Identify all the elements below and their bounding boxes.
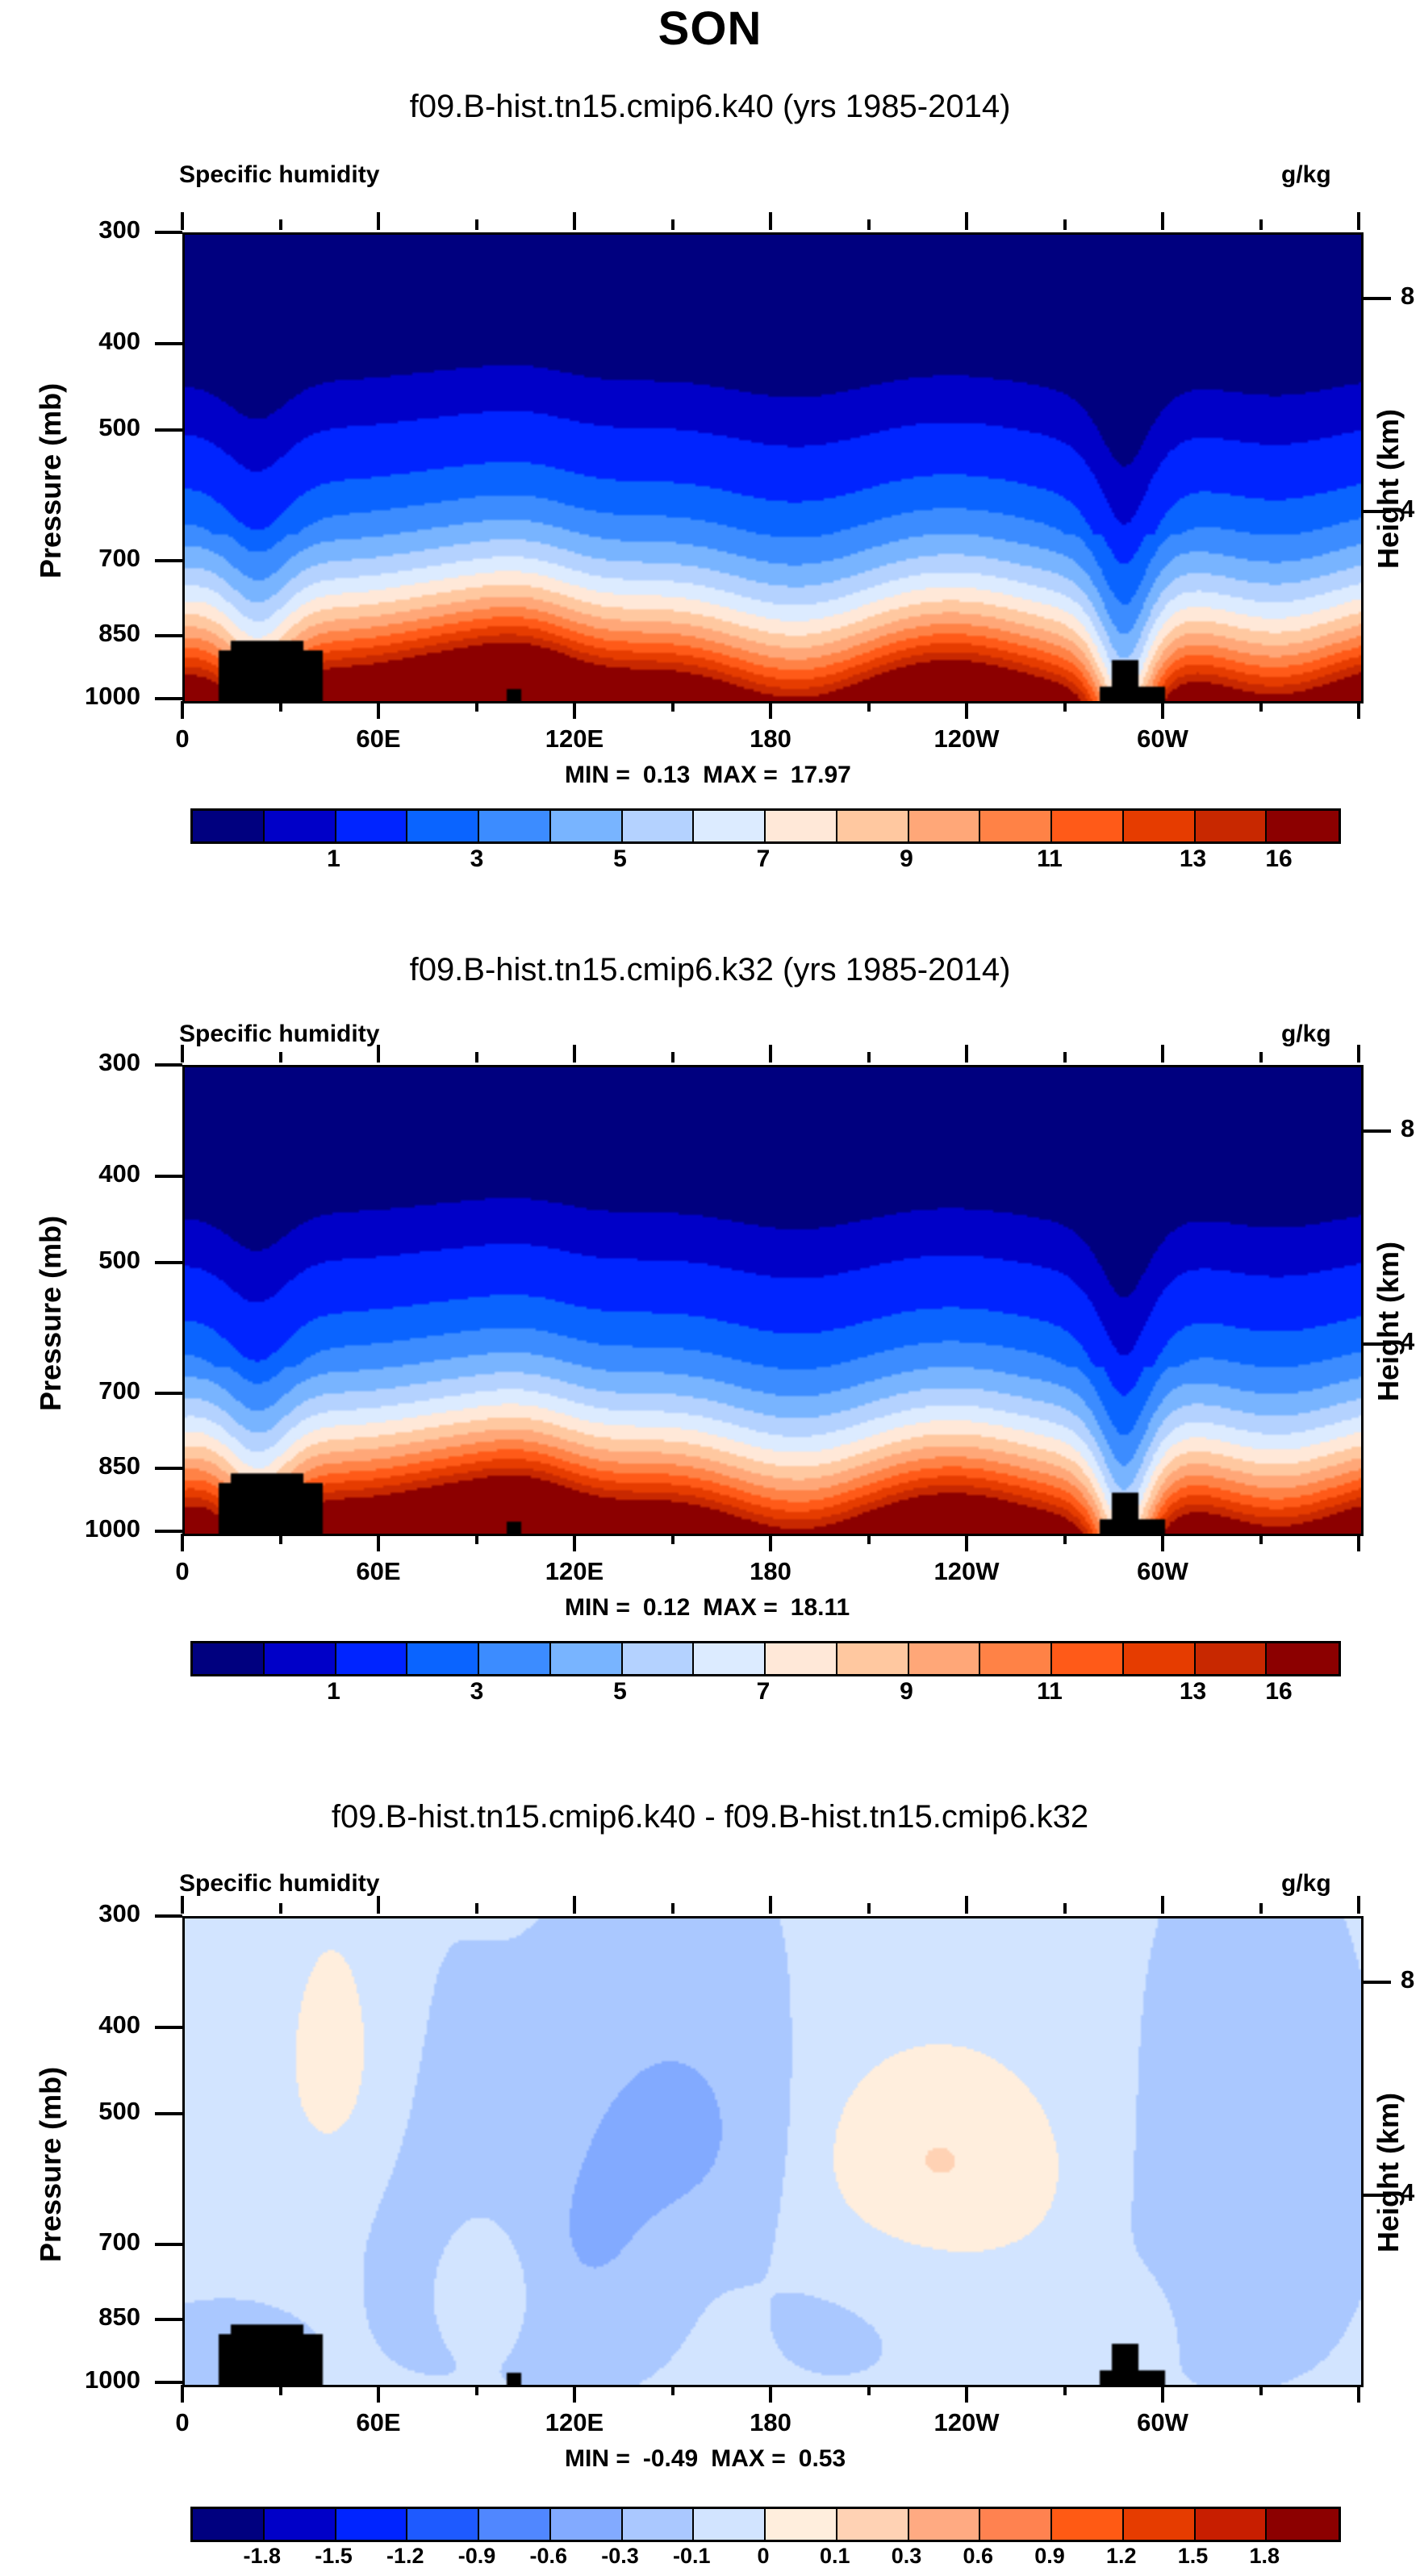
x-tick-mark-bottom bbox=[181, 701, 184, 719]
colorbar-segment bbox=[551, 1643, 623, 1674]
x-tick-label: 60E bbox=[322, 2408, 435, 2437]
x-tick-mark-top bbox=[1063, 1903, 1067, 1914]
x-tick-label: 0 bbox=[126, 2408, 239, 2437]
colorbar bbox=[190, 1641, 1341, 1676]
x-tick-mark-bottom bbox=[867, 1534, 871, 1544]
colorbar-tick-label: 0.3 bbox=[892, 2544, 922, 2569]
x-tick-label: 120E bbox=[518, 2408, 631, 2437]
x-tick-mark-top bbox=[181, 212, 184, 230]
x-tick-mark-top bbox=[475, 1903, 478, 1914]
colorbar-segment bbox=[980, 1643, 1052, 1674]
y-tick-mark bbox=[155, 2112, 182, 2115]
max-label: MAX = bbox=[703, 1594, 778, 1621]
y-tick-mark bbox=[155, 2318, 182, 2321]
colorbar-tick-label: -1.5 bbox=[315, 2544, 353, 2569]
y-tick-label: 300 bbox=[44, 215, 140, 244]
colorbar-tick-label: 1.2 bbox=[1106, 2544, 1137, 2569]
colorbar-segment bbox=[336, 811, 408, 841]
x-tick-mark-top bbox=[1259, 1903, 1263, 1914]
colorbar-tick-label: 9 bbox=[900, 845, 913, 873]
right-axis-title: Height (km) bbox=[1372, 2093, 1405, 2252]
colorbar-tick-label: 0.6 bbox=[963, 2544, 993, 2569]
y-tick-mark bbox=[155, 2243, 182, 2246]
colorbar-tick-label: -0.3 bbox=[601, 2544, 639, 2569]
x-tick-mark-top bbox=[377, 212, 380, 230]
colorbar-segment bbox=[623, 811, 695, 841]
y-tick-label: 850 bbox=[44, 1451, 140, 1480]
y-tick-label: 1000 bbox=[44, 1514, 140, 1543]
colorbar-segment bbox=[193, 811, 265, 841]
contour-canvas bbox=[185, 1918, 1361, 2385]
x-tick-mark-top bbox=[1357, 212, 1360, 230]
colorbar-segment bbox=[551, 2509, 623, 2540]
x-tick-mark-top bbox=[279, 1903, 282, 1914]
max-value: 0.53 bbox=[799, 2445, 846, 2472]
x-tick-mark-bottom bbox=[279, 1534, 282, 1544]
x-tick-label: 0 bbox=[126, 1557, 239, 1586]
x-tick-mark-top bbox=[867, 1052, 871, 1063]
colorbar-tick-label: 1 bbox=[327, 1678, 340, 1706]
x-tick-mark-top bbox=[671, 1903, 674, 1914]
colorbar-tick-label: 13 bbox=[1180, 1678, 1206, 1706]
x-tick-mark-top bbox=[1357, 1896, 1360, 1914]
colorbar-tick-label: 5 bbox=[613, 845, 627, 873]
min-max-annotation: MIN =0.13MAX =17.97 bbox=[565, 762, 851, 789]
colorbar-tick-label: 11 bbox=[1037, 845, 1063, 873]
colorbar-segment bbox=[980, 811, 1052, 841]
colorbar-segment bbox=[837, 1643, 909, 1674]
colorbar-segment bbox=[479, 2509, 551, 2540]
min-label: MIN = bbox=[565, 1594, 630, 1621]
y-tick-mark bbox=[155, 1392, 182, 1395]
min-label: MIN = bbox=[565, 762, 630, 788]
colorbar-segment bbox=[1124, 1643, 1196, 1674]
colorbar-segment bbox=[1124, 811, 1196, 841]
x-tick-label: 180 bbox=[714, 2408, 827, 2437]
right-tick-label: 8 bbox=[1401, 282, 1420, 311]
colorbar-tick-label: -0.1 bbox=[673, 2544, 711, 2569]
colorbar-labels: -1.8-1.5-1.2-0.9-0.6-0.3-0.100.10.30.60.… bbox=[190, 2544, 1336, 2576]
x-tick-mark-bottom bbox=[671, 701, 674, 712]
colorbar-segment bbox=[336, 1643, 408, 1674]
x-tick-mark-top bbox=[1357, 1045, 1360, 1063]
y-tick-mark bbox=[155, 428, 182, 432]
min-value: 0.13 bbox=[643, 762, 690, 788]
y-tick-label: 400 bbox=[44, 327, 140, 356]
y-tick-label: 1000 bbox=[44, 682, 140, 711]
colorbar-segment bbox=[407, 2509, 479, 2540]
y-tick-mark bbox=[155, 2381, 182, 2384]
y-tick-mark bbox=[155, 1467, 182, 1470]
colorbar-segment bbox=[623, 1643, 695, 1674]
x-tick-mark-bottom bbox=[1357, 1534, 1360, 1551]
right-tick-label: 8 bbox=[1401, 1965, 1420, 1994]
x-tick-mark-bottom bbox=[475, 1534, 478, 1544]
colorbar-segment bbox=[479, 811, 551, 841]
colorbar-tick-label: 1.5 bbox=[1178, 2544, 1209, 2569]
contour-plot-area bbox=[182, 232, 1364, 703]
x-tick-mark-bottom bbox=[377, 701, 380, 719]
y-axis-title: Pressure (mb) bbox=[34, 2067, 68, 2262]
x-tick-mark-bottom bbox=[965, 1534, 968, 1551]
colorbar-tick-label: 0.1 bbox=[820, 2544, 850, 2569]
x-tick-mark-top bbox=[965, 1896, 968, 1914]
x-tick-mark-top bbox=[769, 1896, 772, 1914]
contour-canvas bbox=[185, 235, 1361, 701]
x-tick-mark-top bbox=[1161, 212, 1164, 230]
x-tick-mark-bottom bbox=[769, 701, 772, 719]
x-tick-label: 0 bbox=[126, 724, 239, 754]
x-tick-mark-bottom bbox=[573, 701, 576, 719]
x-tick-mark-bottom bbox=[1063, 701, 1067, 712]
colorbar-segment bbox=[1052, 2509, 1124, 2540]
colorbar-segment bbox=[1196, 811, 1268, 841]
colorbar-tick-label: 11 bbox=[1037, 1678, 1063, 1706]
x-tick-mark-top bbox=[475, 1052, 478, 1063]
x-tick-mark-bottom bbox=[1259, 2385, 1263, 2395]
right-axis-title: Height (km) bbox=[1372, 1242, 1405, 1401]
y-tick-mark bbox=[155, 634, 182, 637]
colorbar-tick-label: 5 bbox=[613, 1678, 627, 1706]
colorbar-labels: 13579111316 bbox=[190, 845, 1336, 878]
y-tick-mark bbox=[155, 342, 182, 345]
x-tick-mark-top bbox=[475, 219, 478, 230]
x-tick-mark-bottom bbox=[279, 701, 282, 712]
colorbar-tick-label: -0.6 bbox=[529, 2544, 567, 2569]
max-label: MAX = bbox=[711, 2445, 786, 2472]
colorbar-segment bbox=[1196, 2509, 1268, 2540]
y-tick-mark bbox=[155, 1063, 182, 1067]
colorbar-tick-label: -1.2 bbox=[386, 2544, 424, 2569]
right-tick-mark bbox=[1364, 1981, 1391, 1984]
colorbar-segment bbox=[980, 2509, 1052, 2540]
x-tick-mark-bottom bbox=[1259, 1534, 1263, 1544]
x-tick-mark-top bbox=[279, 219, 282, 230]
max-label: MAX = bbox=[703, 762, 778, 788]
x-tick-label: 120E bbox=[518, 724, 631, 754]
colorbar-tick-label: 0 bbox=[757, 2544, 769, 2569]
colorbar-tick-label: 16 bbox=[1265, 1678, 1292, 1706]
x-tick-mark-bottom bbox=[867, 2385, 871, 2395]
colorbar-segment bbox=[551, 811, 623, 841]
min-value: 0.12 bbox=[643, 1594, 690, 1621]
panel-title: f09.B-hist.tn15.cmip6.k40 (yrs 1985-2014… bbox=[0, 89, 1420, 125]
x-tick-mark-top bbox=[573, 1896, 576, 1914]
variable-label: Specific humidity bbox=[179, 161, 379, 189]
colorbar-segment bbox=[837, 2509, 909, 2540]
colorbar-segment bbox=[1052, 1643, 1124, 1674]
x-tick-mark-top bbox=[867, 1903, 871, 1914]
x-tick-mark-bottom bbox=[867, 701, 871, 712]
x-tick-mark-bottom bbox=[475, 701, 478, 712]
colorbar bbox=[190, 808, 1341, 844]
x-tick-mark-top bbox=[573, 212, 576, 230]
min-value: -0.49 bbox=[643, 2445, 698, 2472]
colorbar-segment bbox=[407, 1643, 479, 1674]
y-tick-label: 300 bbox=[44, 1048, 140, 1077]
x-tick-mark-bottom bbox=[573, 1534, 576, 1551]
x-tick-mark-top bbox=[1259, 1052, 1263, 1063]
x-tick-mark-bottom bbox=[1259, 701, 1263, 712]
x-tick-mark-bottom bbox=[475, 2385, 478, 2395]
x-tick-mark-bottom bbox=[1063, 1534, 1067, 1544]
colorbar-segment bbox=[766, 1643, 837, 1674]
colorbar-labels: 13579111316 bbox=[190, 1678, 1336, 1710]
x-tick-label: 120E bbox=[518, 1557, 631, 1586]
colorbar-segment bbox=[265, 2509, 336, 2540]
variable-label: Specific humidity bbox=[179, 1021, 379, 1048]
colorbar-segment bbox=[837, 811, 909, 841]
colorbar-tick-label: -0.9 bbox=[458, 2544, 496, 2569]
right-tick-mark bbox=[1364, 1129, 1391, 1133]
colorbar-tick-label: 13 bbox=[1180, 845, 1206, 873]
x-tick-label: 60W bbox=[1106, 2408, 1219, 2437]
x-tick-mark-top bbox=[377, 1896, 380, 1914]
colorbar-tick-label: 0.9 bbox=[1034, 2544, 1065, 2569]
y-tick-mark bbox=[155, 1175, 182, 1178]
right-axis-title: Height (km) bbox=[1372, 409, 1405, 569]
colorbar-segment bbox=[766, 2509, 837, 2540]
colorbar-segment bbox=[193, 1643, 265, 1674]
y-tick-label: 850 bbox=[44, 619, 140, 648]
x-tick-label: 180 bbox=[714, 1557, 827, 1586]
unit-label: g/kg bbox=[1281, 161, 1331, 189]
colorbar-segment bbox=[1052, 811, 1124, 841]
y-tick-label: 300 bbox=[44, 1899, 140, 1928]
colorbar-segment bbox=[909, 811, 981, 841]
colorbar-segment bbox=[766, 811, 837, 841]
x-tick-mark-top bbox=[965, 1045, 968, 1063]
colorbar-tick-label: 7 bbox=[757, 1678, 771, 1706]
x-tick-mark-bottom bbox=[279, 2385, 282, 2395]
x-tick-mark-top bbox=[1161, 1045, 1164, 1063]
y-tick-mark bbox=[155, 1914, 182, 1918]
x-tick-label: 60W bbox=[1106, 724, 1219, 754]
colorbar-segment bbox=[909, 2509, 981, 2540]
x-tick-mark-top bbox=[867, 219, 871, 230]
x-tick-mark-bottom bbox=[181, 1534, 184, 1551]
x-tick-mark-top bbox=[573, 1045, 576, 1063]
x-tick-mark-top bbox=[181, 1045, 184, 1063]
colorbar-segment bbox=[479, 1643, 551, 1674]
min-max-annotation: MIN =-0.49MAX =0.53 bbox=[565, 2445, 846, 2473]
colorbar-segment bbox=[694, 811, 766, 841]
x-tick-mark-top bbox=[1259, 219, 1263, 230]
x-tick-label: 120W bbox=[910, 724, 1023, 754]
x-tick-mark-top bbox=[279, 1052, 282, 1063]
colorbar-tick-label: 16 bbox=[1265, 845, 1292, 873]
x-tick-mark-bottom bbox=[769, 1534, 772, 1551]
colorbar-segment bbox=[1124, 2509, 1196, 2540]
unit-label: g/kg bbox=[1281, 1870, 1331, 1898]
contour-plot-area bbox=[182, 1916, 1364, 2387]
max-value: 18.11 bbox=[791, 1594, 850, 1621]
x-tick-mark-top bbox=[671, 219, 674, 230]
y-tick-label: 1000 bbox=[44, 2365, 140, 2394]
x-tick-label: 180 bbox=[714, 724, 827, 754]
y-axis-title: Pressure (mb) bbox=[34, 383, 68, 578]
min-max-annotation: MIN =0.12MAX =18.11 bbox=[565, 1594, 850, 1622]
colorbar-segment bbox=[193, 2509, 265, 2540]
x-tick-mark-top bbox=[1161, 1896, 1164, 1914]
max-value: 17.97 bbox=[791, 762, 851, 788]
x-tick-mark-top bbox=[769, 212, 772, 230]
y-tick-mark bbox=[155, 559, 182, 562]
x-tick-mark-bottom bbox=[671, 2385, 674, 2395]
x-tick-mark-top bbox=[965, 212, 968, 230]
x-tick-label: 60E bbox=[322, 1557, 435, 1586]
colorbar-tick-label: 3 bbox=[470, 845, 484, 873]
colorbar-tick-label: 3 bbox=[470, 1678, 484, 1706]
colorbar-segment bbox=[1267, 811, 1339, 841]
y-tick-mark bbox=[155, 697, 182, 700]
colorbar bbox=[190, 2507, 1341, 2542]
x-tick-mark-top bbox=[1063, 1052, 1067, 1063]
x-tick-mark-bottom bbox=[671, 1534, 674, 1544]
colorbar-segment bbox=[1267, 1643, 1339, 1674]
contour-canvas bbox=[185, 1067, 1361, 1534]
colorbar-tick-label: -1.8 bbox=[243, 2544, 281, 2569]
colorbar-segment bbox=[265, 811, 336, 841]
x-tick-label: 120W bbox=[910, 1557, 1023, 1586]
variable-label: Specific humidity bbox=[179, 1870, 379, 1898]
colorbar-tick-label: 9 bbox=[900, 1678, 913, 1706]
y-tick-label: 400 bbox=[44, 1159, 140, 1188]
x-tick-label: 120W bbox=[910, 2408, 1023, 2437]
x-tick-label: 60E bbox=[322, 724, 435, 754]
x-tick-mark-bottom bbox=[1357, 701, 1360, 719]
colorbar-segment bbox=[909, 1643, 981, 1674]
y-tick-label: 400 bbox=[44, 2010, 140, 2040]
y-tick-label: 850 bbox=[44, 2303, 140, 2332]
y-axis-title: Pressure (mb) bbox=[34, 1216, 68, 1411]
x-tick-mark-top bbox=[769, 1045, 772, 1063]
contour-plot-area bbox=[182, 1065, 1364, 1536]
x-tick-mark-top bbox=[1063, 219, 1067, 230]
colorbar-segment bbox=[694, 2509, 766, 2540]
colorbar-tick-label: 7 bbox=[757, 845, 771, 873]
colorbar-segment bbox=[336, 2509, 408, 2540]
colorbar-segment bbox=[1196, 1643, 1268, 1674]
min-label: MIN = bbox=[565, 2445, 630, 2472]
panel-title: f09.B-hist.tn15.cmip6.k40 - f09.B-hist.t… bbox=[0, 1799, 1420, 1835]
colorbar-segment bbox=[694, 1643, 766, 1674]
y-tick-mark bbox=[155, 1530, 182, 1533]
x-tick-mark-bottom bbox=[1161, 1534, 1164, 1551]
colorbar-segment bbox=[407, 811, 479, 841]
x-tick-mark-bottom bbox=[965, 701, 968, 719]
colorbar-tick-label: 1.8 bbox=[1249, 2544, 1280, 2569]
colorbar-segment bbox=[623, 2509, 695, 2540]
x-tick-label: 60W bbox=[1106, 1557, 1219, 1586]
colorbar-segment bbox=[1267, 2509, 1339, 2540]
x-tick-mark-bottom bbox=[1161, 701, 1164, 719]
y-tick-mark bbox=[155, 1261, 182, 1264]
x-tick-mark-bottom bbox=[377, 1534, 380, 1551]
right-tick-label: 8 bbox=[1401, 1114, 1420, 1143]
right-tick-mark bbox=[1364, 297, 1391, 300]
colorbar-tick-label: 1 bbox=[327, 845, 340, 873]
panel-title: f09.B-hist.tn15.cmip6.k32 (yrs 1985-2014… bbox=[0, 952, 1420, 988]
unit-label: g/kg bbox=[1281, 1021, 1331, 1048]
figure-season-title: SON bbox=[0, 2, 1420, 56]
x-tick-mark-top bbox=[181, 1896, 184, 1914]
x-tick-mark-top bbox=[377, 1045, 380, 1063]
y-tick-mark bbox=[155, 2026, 182, 2029]
colorbar-segment bbox=[265, 1643, 336, 1674]
x-tick-mark-top bbox=[671, 1052, 674, 1063]
x-tick-mark-bottom bbox=[1063, 2385, 1067, 2395]
y-tick-mark bbox=[155, 231, 182, 234]
